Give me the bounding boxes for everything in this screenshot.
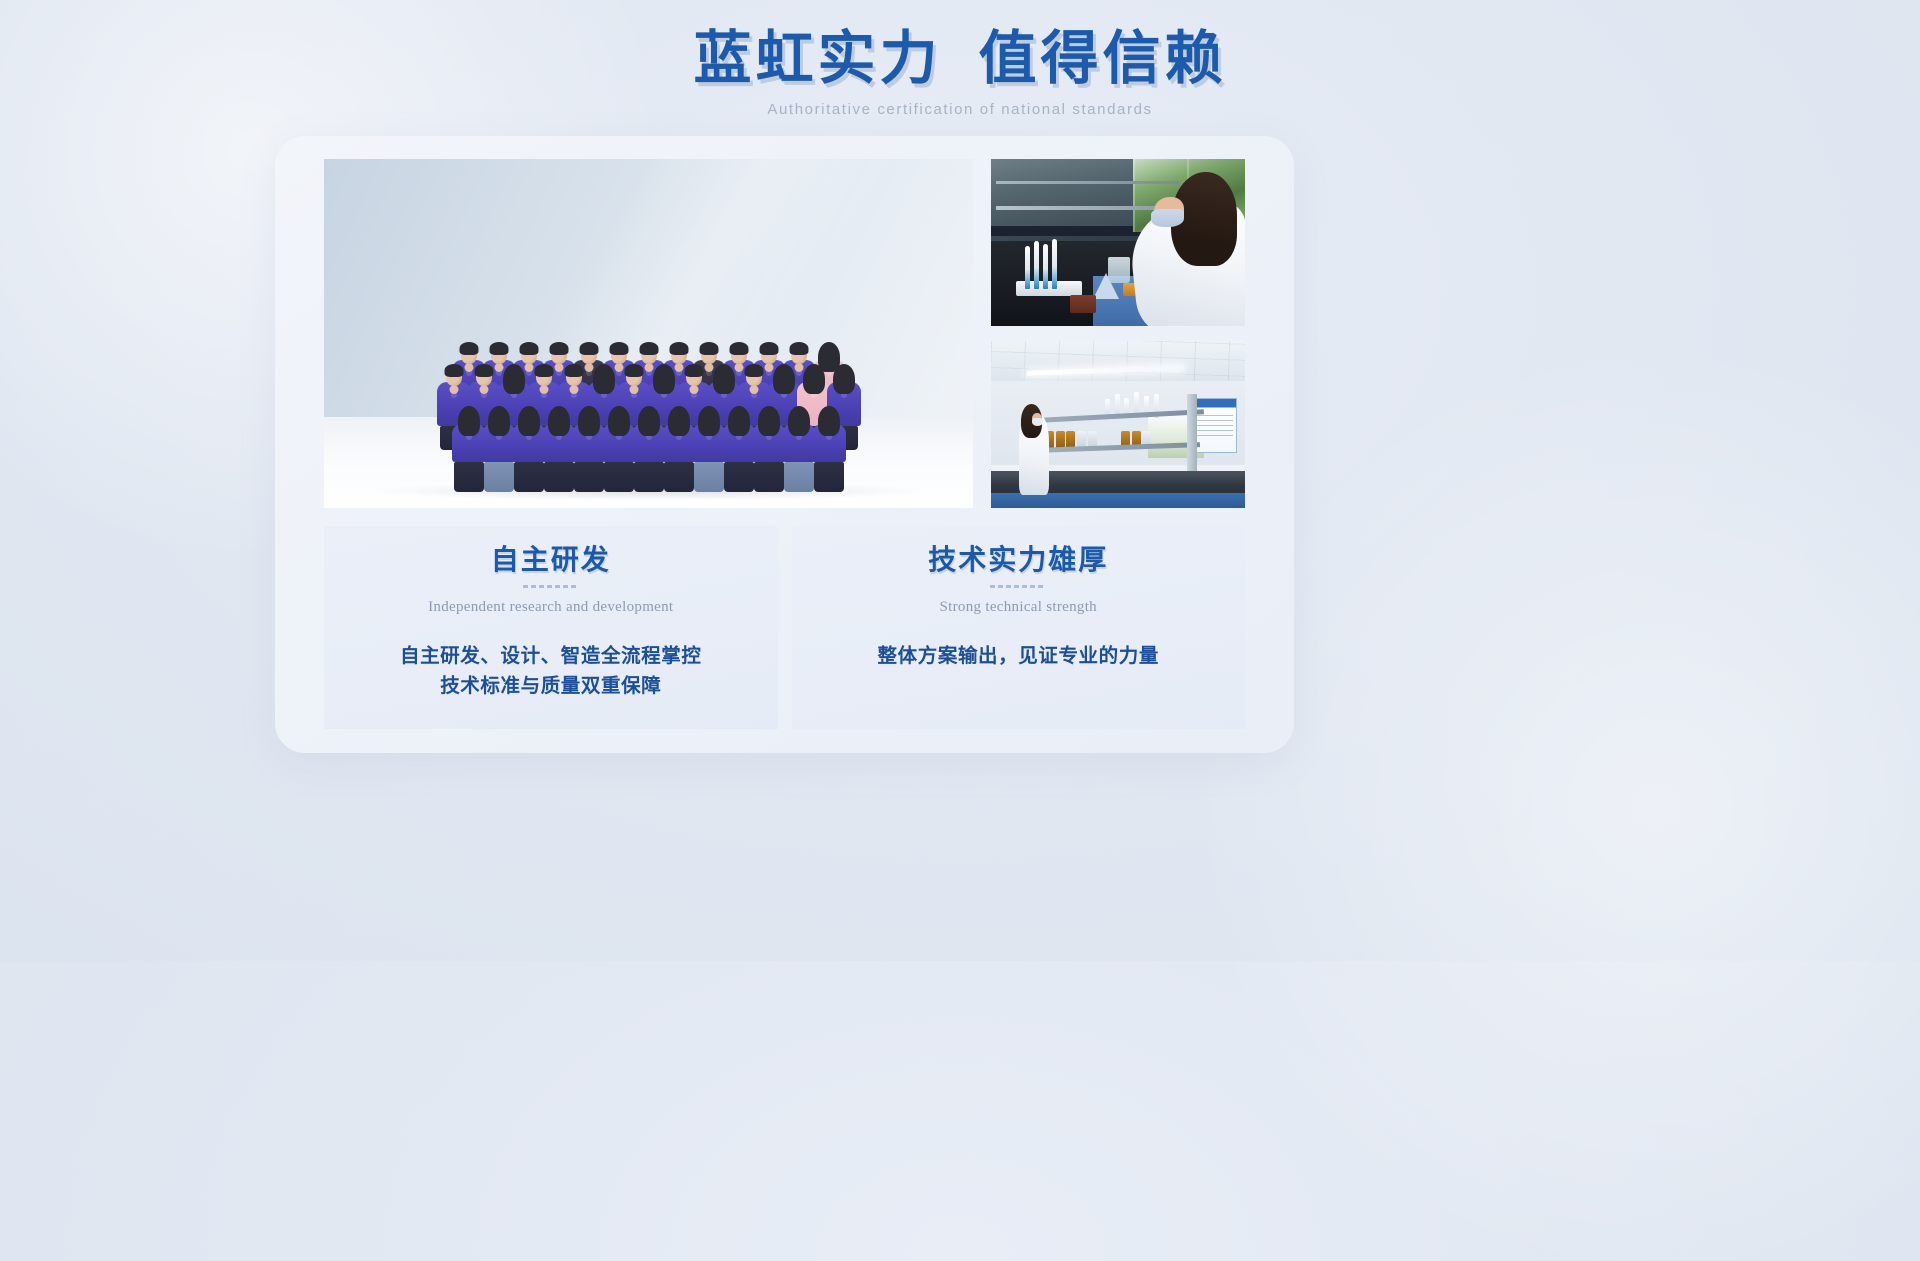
team-member [602, 409, 636, 492]
feature-card-description-line-2: 技术标准与质量双重保障 [400, 672, 702, 702]
shelf-support-post [1187, 394, 1197, 478]
content-panel: 自主研发 Independent research and developmen… [275, 136, 1294, 753]
page-subtitle: Authoritative certification of national … [0, 101, 1920, 118]
team-member [452, 409, 486, 492]
pipette-set [1021, 239, 1077, 289]
lab-workbench-front-panel [991, 493, 1245, 508]
dashed-divider [523, 585, 579, 588]
team-member [512, 409, 546, 492]
lab-shelf-lower [996, 206, 1179, 210]
team-member [572, 409, 606, 492]
team-member [752, 409, 786, 492]
team-member [662, 409, 696, 492]
lab-scene-bench [991, 159, 1245, 326]
page-title: 蓝虹实力 值得信赖 [0, 28, 1920, 91]
lab-scene-interior [991, 341, 1245, 508]
team-row-front [324, 409, 973, 492]
team-member [812, 409, 846, 492]
feature-card-description: 整体方案输出，见证专业的力量 [878, 642, 1159, 672]
team-member [722, 409, 756, 492]
team-member [632, 409, 666, 492]
lab-technician-pipetting-photo [991, 159, 1245, 326]
lab-shelf-upper [996, 181, 1179, 184]
feature-card-subtitle: Strong technical strength [940, 599, 1097, 616]
feature-card-title: 技术实力雄厚 [928, 544, 1108, 578]
feature-cards: 自主研发 Independent research and developmen… [324, 526, 1245, 729]
brown-reagent-bottles [1070, 295, 1096, 313]
glass-beaker [1108, 257, 1130, 283]
lab-upper-wall [991, 159, 1138, 226]
team-member [482, 409, 516, 492]
laboratory-interior-photo [991, 341, 1245, 508]
section-header: 蓝虹实力 值得信赖 Authoritative certification of… [0, 28, 1920, 118]
feature-card-subtitle: Independent research and development [428, 599, 673, 616]
feature-card-independent-rd[interactable]: 自主研发 Independent research and developmen… [324, 526, 778, 729]
photo-gallery [324, 159, 1245, 508]
feature-card-description-line-1: 自主研发、设计、智造全流程掌控 [400, 642, 702, 672]
team-member [542, 409, 576, 492]
feature-card-description-line-1: 整体方案输出，见证专业的力量 [878, 642, 1159, 672]
team-group-photo [324, 159, 973, 508]
feature-card-technical-strength[interactable]: 技术实力雄厚 Strong technical strength 整体方案输出，… [792, 526, 1246, 729]
feature-card-description: 自主研发、设计、智造全流程掌控 技术标准与质量双重保障 [400, 642, 702, 702]
feature-card-title: 自主研发 [491, 544, 611, 578]
team-member [782, 409, 816, 492]
lab-ceiling [991, 341, 1245, 384]
technician-face-mask [1151, 209, 1184, 227]
dashed-divider [990, 585, 1046, 588]
team-member [692, 409, 726, 492]
team-members [324, 159, 973, 508]
